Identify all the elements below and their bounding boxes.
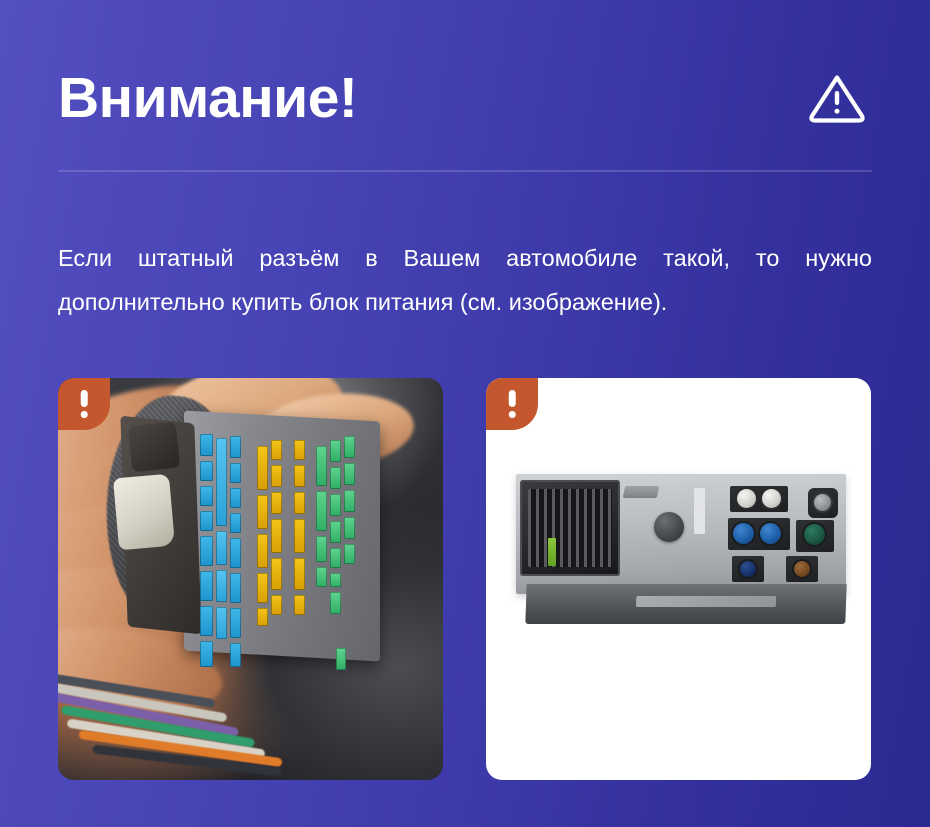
unit-sticker-label (694, 488, 705, 534)
connector-photo-card[interactable] (58, 378, 443, 780)
exclamation-icon (486, 378, 538, 430)
page-title: Внимание! (58, 70, 357, 127)
notice-text: Если штатный разъём в Вашем автомобиле т… (58, 236, 872, 324)
pin-column-green (330, 440, 341, 614)
exclamation-stem (509, 390, 516, 407)
fakra-connector-brown (794, 561, 810, 577)
header-divider (58, 170, 872, 172)
power-unit-photo (486, 378, 871, 780)
pin-column-blue (230, 436, 241, 667)
exclamation-dot (509, 411, 516, 418)
power-supply-unit (504, 466, 854, 636)
pin-column-yellow (257, 446, 268, 626)
notice-text-line-1: Если штатный разъём в Вашем автомобиле т… (58, 236, 872, 280)
fakra-connector-navy (740, 561, 756, 577)
power-unit-photo-card[interactable] (486, 378, 871, 780)
screw-port (814, 494, 831, 511)
image-cards-row (58, 378, 872, 780)
connector-white-latch (113, 474, 175, 551)
unit-metal-tab (623, 486, 660, 498)
unit-round-port (654, 512, 684, 542)
unit-green-key-tab (548, 538, 556, 566)
fakra-connector-blue (760, 523, 781, 544)
pin-column-green (344, 436, 355, 564)
connector-photo (58, 378, 443, 780)
unit-base-plate (525, 584, 846, 624)
unit-iso-connector (520, 480, 620, 576)
pin-column-yellow (271, 440, 282, 615)
page-header: Внимание! (58, 48, 872, 148)
connector-black-latch (128, 422, 181, 473)
exclamation-icon (58, 378, 110, 430)
pin-column-blue (216, 438, 227, 639)
unit-base-label (636, 596, 776, 607)
fakra-connector-blue (733, 523, 754, 544)
rca-connector-white (762, 489, 781, 508)
warning-triangle-icon (806, 67, 868, 129)
pin-column-green (316, 446, 327, 587)
rca-connector-white (737, 489, 756, 508)
pin-column-green (336, 648, 346, 670)
exclamation-stem (81, 390, 88, 407)
fakra-connector-green (804, 524, 825, 545)
notice-text-line-2: дополнительно купить блок питания (см. и… (58, 280, 872, 324)
exclamation-dot (81, 411, 88, 418)
pin-column-yellow (294, 440, 305, 615)
pin-column-blue (200, 434, 213, 667)
